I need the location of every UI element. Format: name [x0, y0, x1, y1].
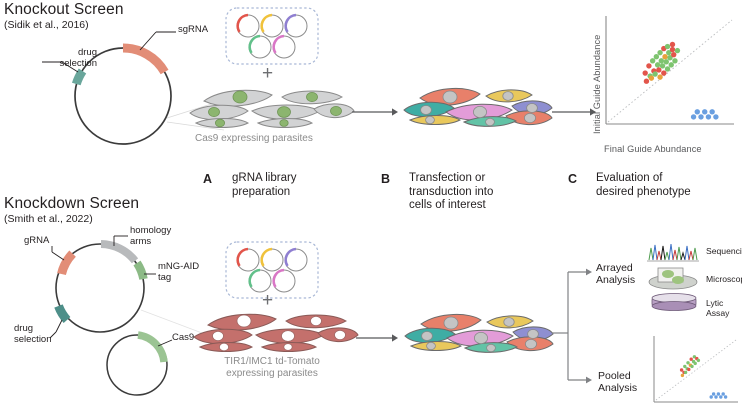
knockout-plasmid: [28, 22, 208, 152]
scatter-point: [709, 109, 714, 114]
scatter-point: [680, 368, 683, 371]
pooled-analysis-label: Pooled Analysis: [598, 370, 637, 394]
pooled-line-1: Pooled: [598, 370, 637, 382]
panel-c-letter: C: [568, 172, 577, 186]
scatter-point: [646, 63, 651, 68]
tir1-parasites: [190, 309, 358, 357]
scatter-point: [675, 48, 680, 53]
knockdown-drug-selection-label: drug selection: [14, 324, 52, 345]
cas9-parasites-caption: Cas9 expressing parasites: [195, 133, 313, 145]
scatter-point: [671, 52, 676, 57]
knockout-y-axis-text: Initial Guide Abundance: [592, 35, 602, 134]
scatter-point: [698, 114, 703, 119]
scatter-point: [654, 54, 659, 59]
scatter-point: [706, 114, 711, 119]
scatter-point: [665, 44, 670, 49]
mng-line-2: tag: [158, 273, 199, 284]
scatter-point: [695, 109, 700, 114]
scatter-point: [649, 75, 654, 80]
scatter-point: [657, 74, 662, 79]
pooled-analysis-plot: [648, 336, 740, 410]
scatter-point: [644, 79, 649, 84]
grna-library-box: [224, 6, 320, 66]
panel-a-line-2: preparation: [232, 186, 362, 200]
transfected-cells-bottom: [403, 308, 555, 358]
transfected-cells-top: [402, 82, 554, 132]
scatter-point: [662, 54, 667, 59]
panel-b-line-1: Transfection or: [409, 172, 549, 186]
panel-b-text: Transfection or transduction into cells …: [409, 172, 549, 213]
scatter-point: [659, 58, 664, 63]
scatter-point: [664, 59, 669, 64]
scatter-point: [681, 374, 684, 377]
panel-b-letter: B: [381, 172, 390, 186]
arrayed-analysis-label: Arrayed Analysis: [596, 262, 635, 286]
scatter-point: [712, 392, 715, 395]
scatter-point: [697, 359, 700, 362]
knockout-title: Knockout Screen: [4, 2, 124, 18]
lytic-assay-label: Lytic Assay: [706, 298, 742, 318]
knockout-drug-selection-label: drug selection: [33, 48, 97, 69]
panel-b-line-2: transduction into: [409, 186, 549, 200]
scatter-point: [669, 62, 674, 67]
knockout-y-axis-label: Initial Guide Abundance: [590, 16, 604, 136]
knockout-plus-sign: +: [262, 63, 273, 85]
knockdown-mng-tag-label: mNG-AID tag: [158, 262, 199, 283]
scatter-point: [694, 362, 697, 365]
tir1-caption-line-2: expressing parasites: [197, 368, 347, 380]
knockout-sgrna-label: sgRNA: [178, 25, 208, 36]
scatter-point: [691, 114, 696, 119]
tir1-caption-line-1: TIR1/IMC1 td-Tomato: [197, 356, 347, 368]
scatter-point: [670, 42, 675, 47]
panel-a-letter: A: [203, 172, 212, 186]
knockout-guide-abundance-plot: [596, 14, 736, 140]
panel-b-line-3: cells of interest: [409, 199, 549, 213]
scatter-point: [656, 67, 661, 72]
sequencing-label: Sequencing: [706, 246, 742, 256]
knockdown-homology-label: homology arms: [130, 226, 171, 247]
panel-c-line-2: desired phenotype: [596, 186, 741, 200]
panel-c-line-1: Evaluation of: [596, 172, 741, 186]
arrayed-line-2: Analysis: [596, 274, 635, 286]
scatter-point: [710, 395, 713, 398]
drug-line-2: selection: [33, 59, 97, 70]
pooled-line-2: Analysis: [598, 382, 637, 394]
scatter-point: [724, 395, 727, 398]
tir1-parasites-caption: TIR1/IMC1 td-Tomato expressing parasites: [197, 356, 347, 379]
scatter-point: [655, 62, 660, 67]
microscopy-label: Microscopy: [706, 274, 742, 284]
panel-c-text: Evaluation of desired phenotype: [596, 172, 741, 199]
knockdown-title: Knockdown Screen: [4, 196, 139, 212]
scatter-point: [684, 371, 687, 374]
scatter-point: [687, 368, 690, 371]
panel-a-line-1: gRNA library: [232, 172, 362, 186]
scatter-point: [717, 392, 720, 395]
panel-a-text: gRNA library preparation: [232, 172, 362, 199]
chromatogram-icon: [647, 240, 699, 266]
scatter-point: [665, 66, 670, 71]
petri-dish-icon: [650, 292, 698, 312]
scatter-point: [713, 114, 718, 119]
scatter-point: [702, 109, 707, 114]
scatter-point: [660, 63, 665, 68]
scatter-point: [670, 47, 675, 52]
scatter-point: [690, 358, 693, 361]
scatter-point: [652, 71, 657, 76]
scatter-point: [719, 395, 722, 398]
scatter-point: [661, 70, 666, 75]
scatter-point: [643, 70, 648, 75]
scatter-point: [650, 58, 655, 63]
knockdown-arrow-1: [356, 331, 400, 345]
analysis-branch-connector: [552, 258, 600, 388]
scatter-point: [686, 361, 689, 364]
knockout-arrow-1: [352, 105, 400, 119]
scatter-point: [714, 395, 717, 398]
scatter-point: [657, 50, 662, 55]
knockout-x-axis-label: Final Guide Abundance: [604, 144, 702, 154]
kd-drug-line-2: selection: [14, 335, 52, 346]
scatter-point: [690, 365, 693, 368]
slide-icon: [648, 266, 698, 290]
scatter-point: [683, 365, 686, 368]
cas9-expressing-parasites: [186, 83, 354, 131]
knockdown-grna-label: gRNA: [24, 236, 49, 247]
scatter-point: [672, 58, 677, 63]
homology-line-2: arms: [130, 237, 171, 248]
arrayed-line-1: Arrayed: [596, 262, 635, 274]
scatter-point: [722, 392, 725, 395]
